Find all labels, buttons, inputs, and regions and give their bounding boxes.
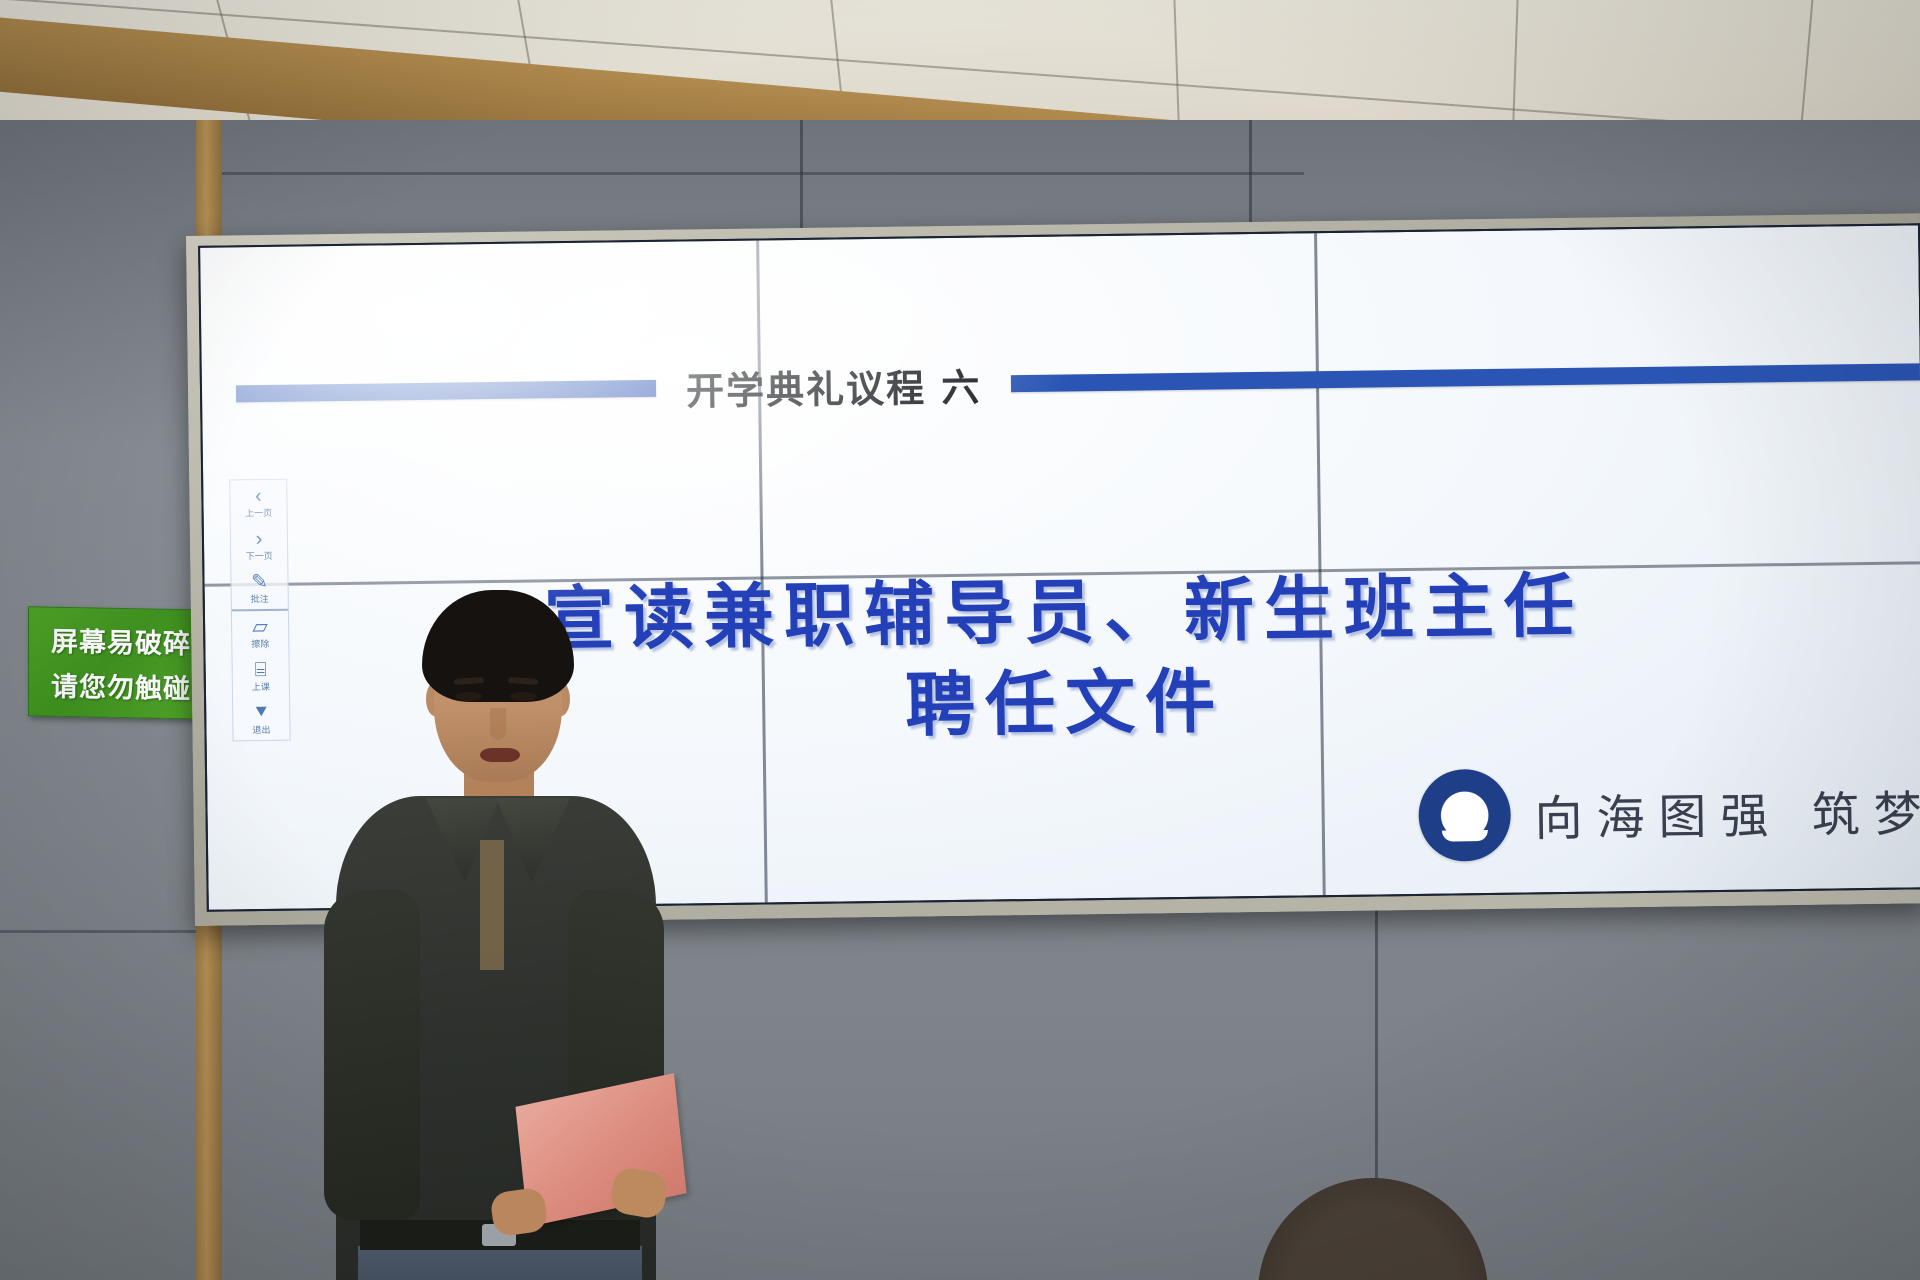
briefcase-icon: ⌸: [255, 661, 267, 679]
slide-motto: 向海图强 筑梦: [1534, 774, 1920, 849]
screen-warning-sign: 屏幕易破碎 请您勿触碰: [28, 606, 214, 720]
audience-member-hair: [1258, 1178, 1488, 1280]
chevron-left-icon: ‹: [255, 487, 262, 505]
school-emblem-sailboat-icon: [1418, 769, 1511, 862]
slide-header-title: 开学典礼议程 六: [656, 356, 1012, 416]
toolbar-label-prev-page: 上一页: [245, 506, 272, 519]
presenter-arm-left: [324, 890, 420, 1220]
audience-member: [1258, 1178, 1488, 1280]
header-rule-left: [236, 379, 656, 401]
presenter-nose: [490, 708, 506, 740]
toolbar-group-navigation: ‹ 上一页 › 下一页 ✎ 批注: [230, 480, 288, 610]
eraser-icon: ▱: [252, 618, 268, 636]
toolbar-item-exit[interactable]: ⯆ 退出: [233, 697, 290, 741]
screen-toolbar[interactable]: ‹ 上一页 › 下一页 ✎ 批注 ▱ 擦除: [229, 479, 290, 742]
toolbar-group-tools: ▱ 擦除 ⌸ 上课 ⯆ 退出: [232, 611, 290, 741]
toolbar-item-erase[interactable]: ▱ 擦除: [232, 611, 289, 655]
warning-sign-line1: 屏幕易破碎: [51, 620, 191, 662]
toolbar-label-exit: 退出: [252, 723, 270, 736]
toolbar-item-prev-page[interactable]: ‹ 上一页: [230, 480, 287, 524]
presenter-eye-left: [456, 692, 482, 701]
presenter-hair: [422, 590, 574, 702]
header-rule-right: [1011, 363, 1920, 392]
toolbar-label-class: 上课: [252, 680, 270, 693]
exit-icon: ⯆: [253, 704, 269, 722]
presenter-trousers: [358, 1246, 642, 1280]
pencil-icon: ✎: [251, 573, 268, 591]
toolbar-item-annotate[interactable]: ✎ 批注: [231, 566, 288, 610]
toolbar-item-class[interactable]: ⌸ 上课: [232, 654, 289, 698]
presenter: [330, 590, 660, 1280]
presenter-eye-right: [510, 692, 536, 701]
photo-scene: 屏幕易破碎 请您勿触碰 开学典礼议程 六 宣读兼职辅导员、新生班主任 聘任文件: [0, 0, 1920, 1280]
toolbar-item-next-page[interactable]: › 下一页: [231, 523, 288, 567]
warning-sign-line2: 请您勿触碰: [51, 665, 191, 707]
slide-branding: 向海图强 筑梦: [1418, 763, 1920, 862]
toolbar-label-next-page: 下一页: [246, 549, 273, 562]
chevron-right-icon: ›: [256, 530, 263, 548]
toolbar-label-annotate: 批注: [251, 592, 269, 605]
presenter-shirt-placket: [480, 840, 504, 970]
slide-header: 开学典礼议程 六: [202, 341, 1920, 423]
toolbar-label-erase: 擦除: [251, 637, 269, 650]
presenter-mouth: [480, 748, 520, 762]
